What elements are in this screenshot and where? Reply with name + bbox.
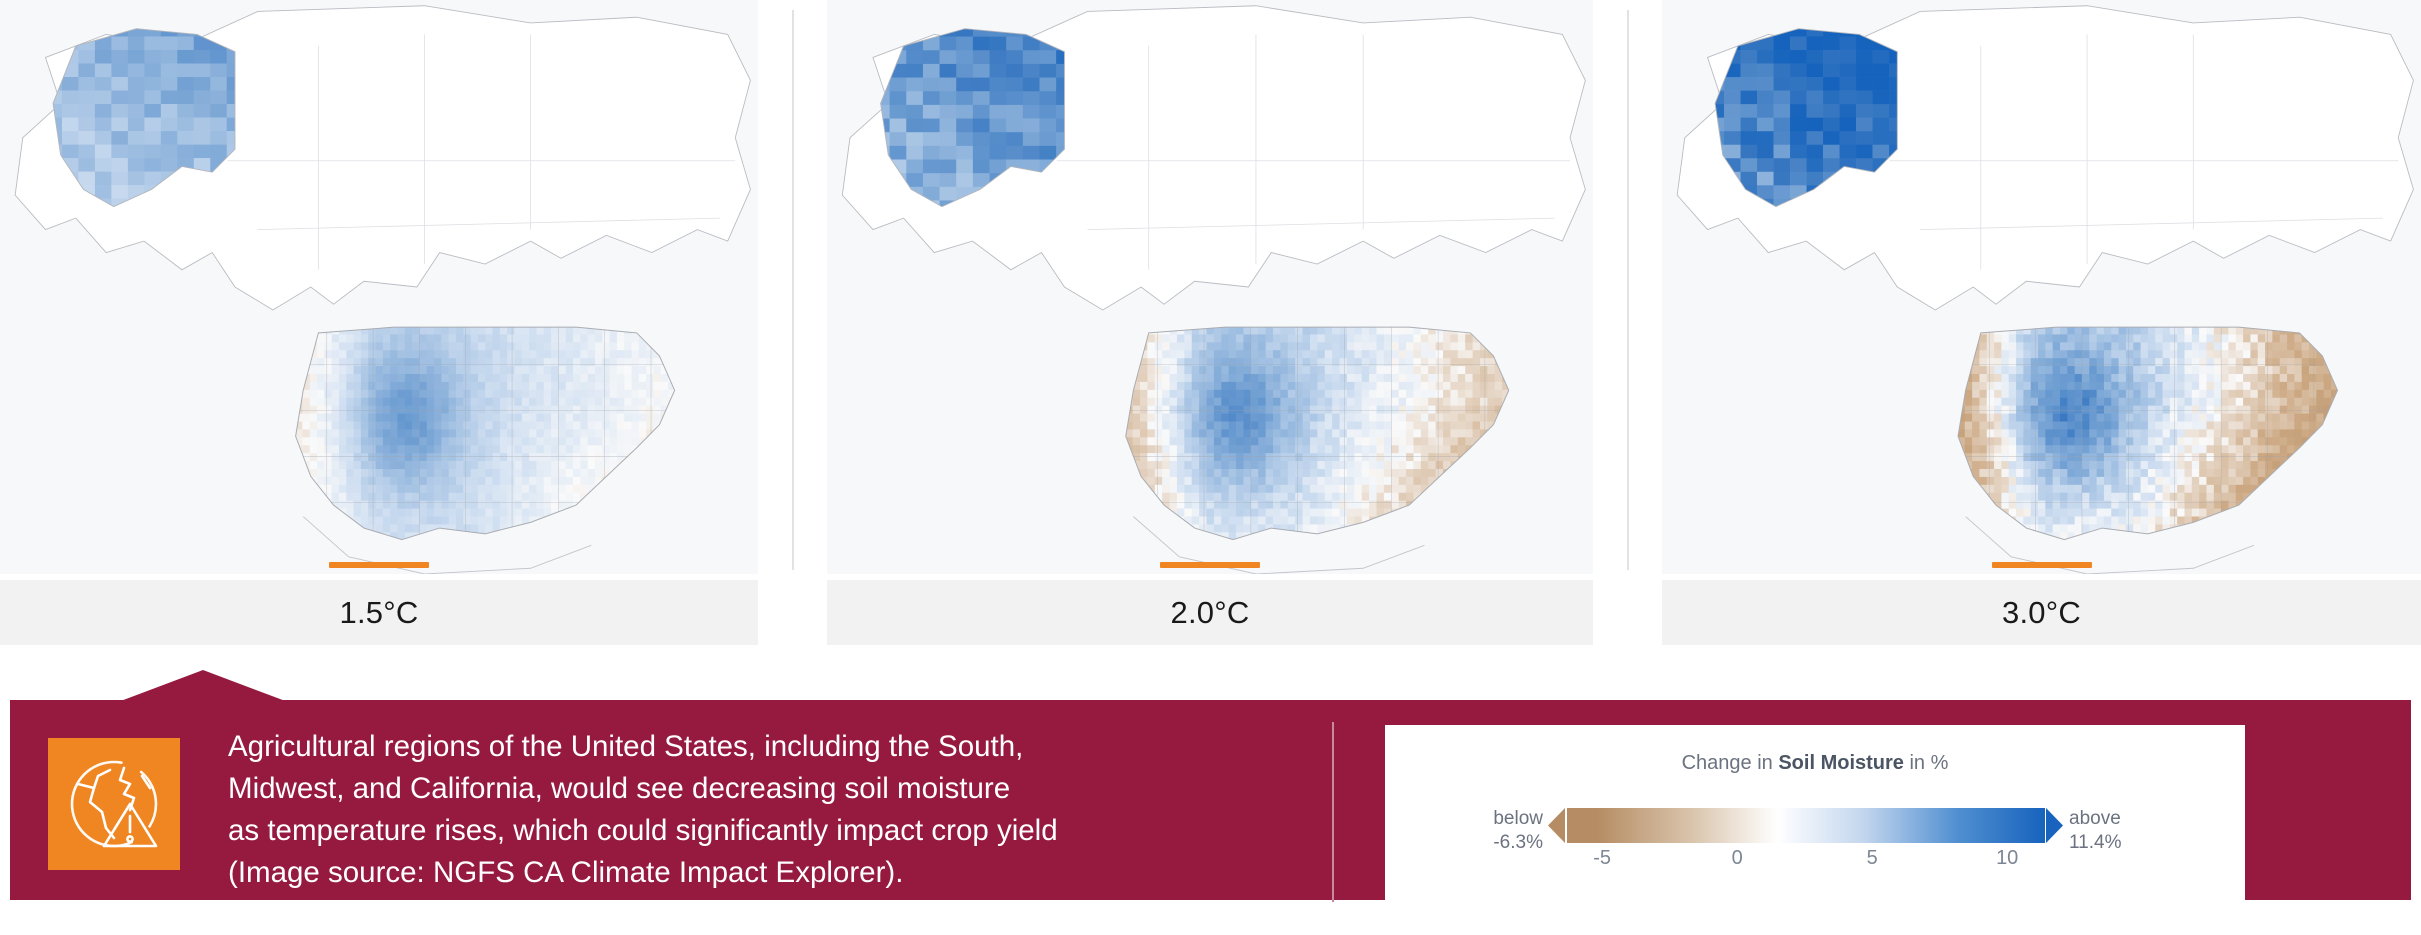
callout-line-3: as temperature rises, which could signif… [228,810,1298,852]
legend-below-word: below [1407,807,1543,831]
legend-title-prefix: Change in [1682,752,1779,774]
panel-divider-1 [792,10,794,570]
callout-notch [118,670,288,702]
legend-card: Change in Soil Moisture in % below -6.3%… [1385,725,2245,903]
panel-2-0c[interactable]: 2.0°C [827,0,1593,645]
legend-above-word: above [2069,807,2229,831]
warming-level-panels: 1.5°C 2.0°C 3.0°C [0,0,2421,645]
legend-tick: -5 [1593,847,1611,870]
panel-label-3-0c[interactable]: 3.0°C [1662,580,2421,645]
callout-line-4: (Image source: NGFS CA Climate Impact Ex… [228,852,1298,894]
legend-ticks: -50510 [1567,847,2045,875]
map-canvas-1-5c [0,0,758,574]
map-canvas-3-0c [1662,0,2421,574]
panel-1-5c[interactable]: 1.5°C [0,0,758,645]
panel-label-text: 2.0°C [1171,595,1250,631]
tab-underline-2-0c [1160,562,1260,568]
panel-label-text: 3.0°C [2002,595,2081,631]
panel-divider-2 [1627,10,1629,570]
legend-colorbar [1567,808,2045,843]
map-canvas-2-0c [827,0,1593,574]
legend-title-emphasis: Soil Moisture [1778,752,1904,774]
legend-tick: 10 [1996,847,2018,870]
panel-3-0c[interactable]: 3.0°C [1662,0,2421,645]
panel-label-2-0c[interactable]: 2.0°C [827,580,1593,645]
map-1-5c[interactable] [0,0,758,574]
globe-warning-icon [48,738,180,870]
map-3-0c[interactable] [1662,0,2421,574]
tab-underline-3-0c [1992,562,2092,568]
tab-underline-1-5c [329,562,429,568]
panel-label-1-5c[interactable]: 1.5°C [0,580,758,645]
legend-cap-left [1548,808,1565,843]
legend-title: Change in Soil Moisture in % [1385,752,2245,775]
legend-below-value: -6.3% [1407,831,1543,855]
legend-above-value: 11.4% [2069,831,2229,855]
callout-line-2: Midwest, and California, would see decre… [228,768,1298,810]
legend-above-label: above 11.4% [2069,807,2229,855]
callout-line-1: Agricultural regions of the United State… [228,726,1298,768]
map-2-0c[interactable] [827,0,1593,574]
legend-title-suffix: in % [1904,752,1948,774]
callout-text: Agricultural regions of the United State… [228,726,1298,894]
legend-tick: 5 [1867,847,1878,870]
legend-tick: 0 [1732,847,1743,870]
legend-below-label: below -6.3% [1407,807,1543,855]
panel-label-text: 1.5°C [340,595,419,631]
callout-divider [1332,722,1334,902]
legend-cap-right [2046,808,2063,843]
